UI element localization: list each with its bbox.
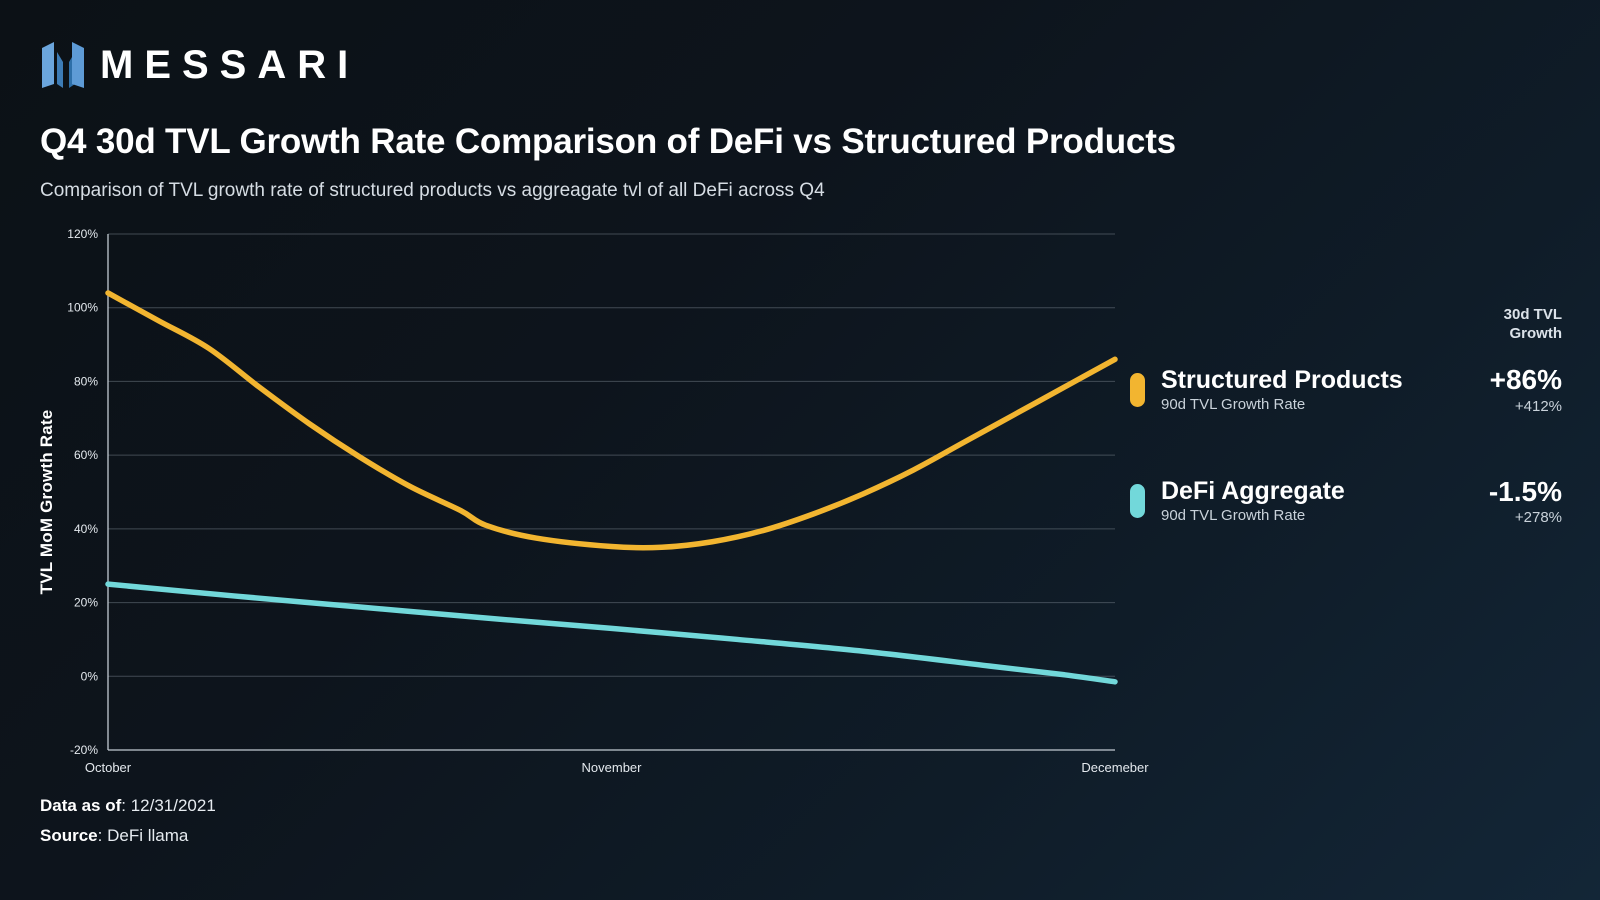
footer-source-label: Source bbox=[40, 826, 98, 845]
legend-header-line1: 30d TVL bbox=[1130, 305, 1562, 324]
y-axis-tick-label: -20% bbox=[70, 743, 98, 757]
chart-svg: 120%100%80%60%40%20%0%-20%OctoberNovembe… bbox=[40, 222, 1160, 782]
x-axis-tick-label: October bbox=[85, 760, 132, 775]
messari-logo-icon bbox=[40, 40, 86, 90]
footer: Data as of: 12/31/2021 Source: DeFi llam… bbox=[40, 796, 216, 856]
y-axis-tick-label: 60% bbox=[74, 448, 98, 462]
legend-item-label: Structured Products bbox=[1161, 366, 1403, 394]
legend-item-secondary-value: +278% bbox=[1458, 509, 1562, 526]
legend-item-label: DeFi Aggregate bbox=[1161, 477, 1345, 505]
y-axis-tick-label: 80% bbox=[74, 374, 98, 388]
y-axis-tick-label: 20% bbox=[74, 596, 98, 610]
footer-data-as-of-label: Data as of bbox=[40, 796, 121, 815]
legend-swatch-icon bbox=[1130, 484, 1145, 518]
legend-item-sublabel: 90d TVL Growth Rate bbox=[1161, 507, 1458, 524]
footer-data-as-of: Data as of: 12/31/2021 bbox=[40, 796, 216, 816]
x-axis-tick-label: Decemeber bbox=[1081, 760, 1149, 775]
brand-logo: MESSARI bbox=[40, 38, 359, 92]
y-axis-tick-label: 120% bbox=[67, 227, 98, 241]
legend-swatch-icon bbox=[1130, 373, 1145, 407]
legend-header: 30d TVL Growth bbox=[1130, 305, 1570, 343]
legend-item-value: +86% bbox=[1458, 365, 1562, 395]
series-line-structured-products bbox=[108, 293, 1115, 548]
legend-item-structured-products[interactable]: Structured Products 90d TVL Growth Rate … bbox=[1130, 365, 1570, 414]
page-subtitle: Comparison of TVL growth rate of structu… bbox=[40, 180, 825, 202]
y-axis-tick-label: 40% bbox=[74, 522, 98, 536]
legend-item-secondary-value: +412% bbox=[1458, 398, 1562, 415]
chart-plot-area: TVL MoM Growth Rate 120%100%80%60%40%20%… bbox=[40, 222, 1160, 782]
legend-header-line2: Growth bbox=[1130, 324, 1562, 343]
series-line-defi-aggregate bbox=[108, 584, 1115, 682]
page-title: Q4 30d TVL Growth Rate Comparison of DeF… bbox=[40, 122, 1176, 162]
legend-item-value: -1.5% bbox=[1458, 477, 1562, 507]
y-axis-tick-label: 0% bbox=[81, 669, 99, 683]
footer-source-value: : DeFi llama bbox=[98, 826, 189, 845]
x-axis-tick-label: November bbox=[582, 760, 643, 775]
chart-legend: 30d TVL Growth Structured Products 90d T… bbox=[1130, 305, 1570, 554]
legend-item-sublabel: 90d TVL Growth Rate bbox=[1161, 396, 1458, 413]
footer-source: Source: DeFi llama bbox=[40, 826, 216, 846]
y-axis-tick-label: 100% bbox=[67, 301, 98, 315]
brand-wordmark: MESSARI bbox=[100, 45, 359, 85]
legend-item-defi-aggregate[interactable]: DeFi Aggregate 90d TVL Growth Rate -1.5%… bbox=[1130, 477, 1570, 526]
footer-data-as-of-value: : 12/31/2021 bbox=[121, 796, 216, 815]
